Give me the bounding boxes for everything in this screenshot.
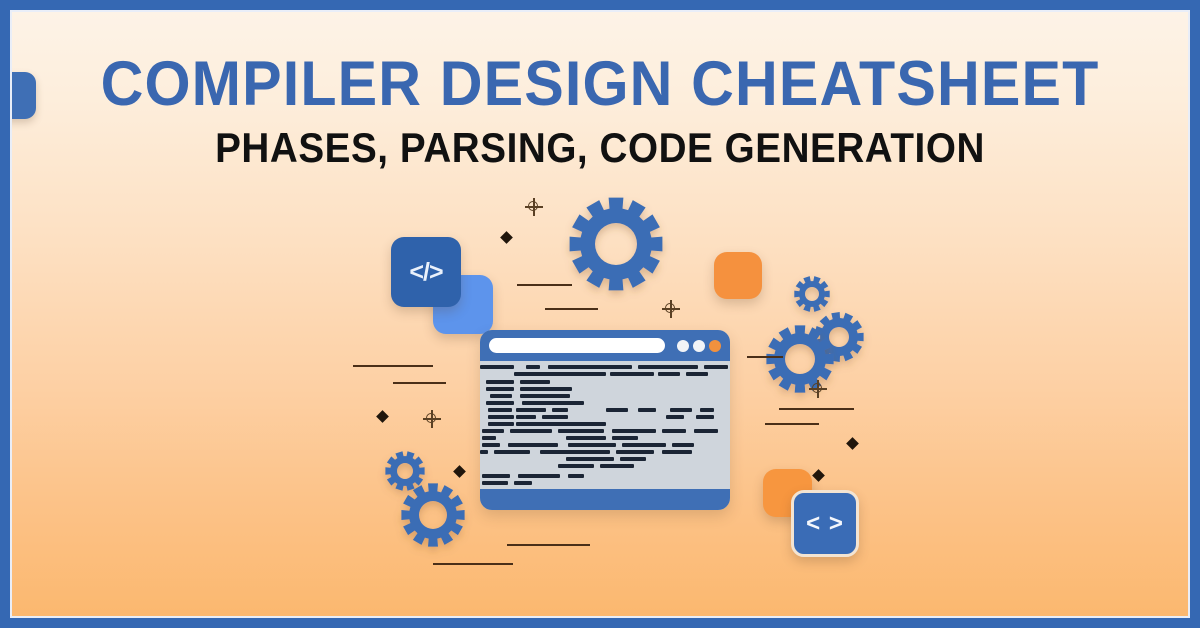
code-line bbox=[552, 408, 568, 412]
decor-dash bbox=[765, 423, 819, 425]
orange-square-top bbox=[714, 252, 762, 299]
code-line bbox=[566, 457, 614, 461]
decor-dash bbox=[545, 308, 598, 310]
code-line bbox=[482, 429, 504, 433]
code-line bbox=[704, 365, 728, 369]
code-line bbox=[610, 372, 654, 376]
code-line bbox=[488, 422, 514, 426]
code-line bbox=[548, 365, 632, 369]
code-line bbox=[482, 436, 496, 440]
window-footer bbox=[480, 489, 730, 510]
code-line bbox=[508, 443, 558, 447]
decor-crosshair-icon bbox=[423, 410, 441, 428]
code-line bbox=[666, 415, 684, 419]
code-line bbox=[518, 474, 560, 478]
code-line bbox=[516, 408, 546, 412]
code-line bbox=[662, 450, 692, 454]
decor-dash bbox=[353, 365, 433, 367]
code-line bbox=[520, 387, 572, 391]
code-line bbox=[638, 408, 656, 412]
code-line bbox=[510, 429, 552, 433]
code-line bbox=[486, 380, 514, 384]
code-line bbox=[526, 365, 540, 369]
code-line bbox=[566, 436, 606, 440]
code-line bbox=[568, 443, 616, 447]
code-line bbox=[516, 415, 536, 419]
code-line bbox=[486, 401, 514, 405]
code-line bbox=[514, 372, 606, 376]
code-line bbox=[638, 365, 698, 369]
code-line bbox=[514, 481, 532, 485]
code-line bbox=[516, 422, 606, 426]
gear-small-right-upper bbox=[794, 276, 829, 312]
decor-crosshair-icon bbox=[525, 198, 543, 216]
code-line bbox=[520, 380, 550, 384]
code-line bbox=[480, 450, 488, 454]
code-line bbox=[700, 408, 714, 412]
page-subtitle: PHASES, PARSING, CODE GENERATION bbox=[59, 126, 1141, 170]
gear-medium-left-lower bbox=[401, 483, 464, 546]
code-line bbox=[672, 443, 694, 447]
code-line bbox=[482, 481, 508, 485]
code-line bbox=[568, 474, 584, 478]
code-line bbox=[488, 408, 512, 412]
code-line bbox=[490, 394, 512, 398]
code-line bbox=[658, 372, 680, 376]
banner-frame: COMPILER DESIGN CHEATSHEET PHASES, PARSI… bbox=[0, 0, 1200, 628]
window-address-bar[interactable] bbox=[489, 338, 665, 353]
window-dot-1 bbox=[677, 340, 689, 352]
code-line bbox=[486, 387, 514, 391]
code-line bbox=[558, 464, 594, 468]
page-title: COMPILER DESIGN CHEATSHEET bbox=[47, 52, 1152, 116]
decor-dash bbox=[507, 544, 590, 546]
code-line bbox=[662, 429, 686, 433]
code-line bbox=[520, 394, 570, 398]
banner-inner: COMPILER DESIGN CHEATSHEET PHASES, PARSI… bbox=[10, 10, 1190, 618]
gear-small-left-lower bbox=[385, 451, 424, 491]
code-line bbox=[686, 372, 708, 376]
window-dot-3 bbox=[709, 340, 721, 352]
decor-crosshair-icon bbox=[809, 380, 827, 398]
code-tag-tile-blue: < > bbox=[791, 490, 859, 557]
code-line bbox=[622, 443, 666, 447]
code-line bbox=[522, 401, 584, 405]
code-editor-window bbox=[480, 330, 730, 510]
window-code-area bbox=[480, 361, 730, 489]
code-line bbox=[482, 443, 500, 447]
code-line bbox=[616, 450, 654, 454]
code-line bbox=[542, 415, 568, 419]
code-line bbox=[488, 415, 514, 419]
code-line bbox=[620, 457, 646, 461]
code-line bbox=[612, 429, 656, 433]
decor-dash bbox=[393, 382, 446, 384]
decor-crosshair-icon bbox=[662, 300, 680, 318]
code-line bbox=[612, 436, 638, 440]
window-dot-2 bbox=[693, 340, 705, 352]
code-line bbox=[480, 365, 514, 369]
code-tag-tile-dark: </> bbox=[391, 237, 461, 307]
decor-dash bbox=[517, 284, 572, 286]
code-line bbox=[694, 429, 718, 433]
window-titlebar bbox=[480, 330, 730, 361]
code-line bbox=[670, 408, 692, 412]
code-line bbox=[696, 415, 714, 419]
code-line bbox=[482, 474, 510, 478]
code-line bbox=[540, 450, 610, 454]
code-line bbox=[600, 464, 634, 468]
code-line bbox=[494, 450, 530, 454]
code-line bbox=[606, 408, 628, 412]
decor-dash bbox=[433, 563, 513, 565]
code-line bbox=[558, 429, 604, 433]
decor-dash bbox=[747, 356, 783, 358]
decor-dash bbox=[779, 408, 854, 410]
heading-block: COMPILER DESIGN CHEATSHEET PHASES, PARSI… bbox=[12, 52, 1188, 170]
